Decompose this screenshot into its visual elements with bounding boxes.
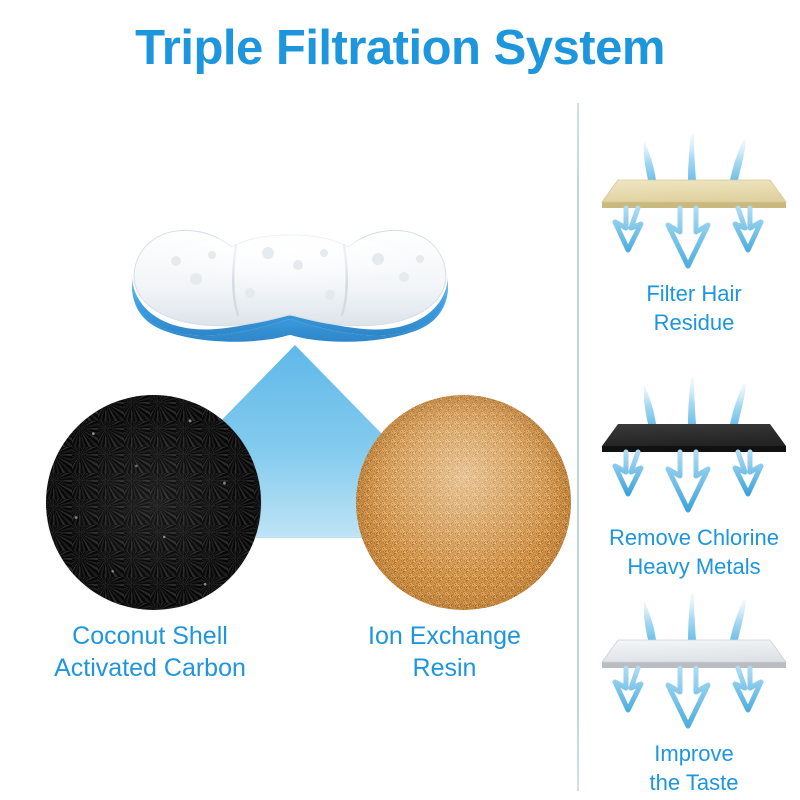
feature-remove-chlorine-heavy-metals: Remove Chlorine Heavy Metals (588, 372, 800, 581)
activated-carbon-label: Coconut Shell Activated Carbon (0, 620, 300, 684)
carbon-label-line1: Coconut Shell (72, 622, 228, 650)
feature3-line1: Improve (654, 741, 733, 766)
benefits-section: Filter Hair Residue (588, 110, 800, 800)
feature-caption-improve-the-taste: Improve the Taste (588, 740, 800, 797)
feature2-line2: Heavy Metals (588, 553, 800, 582)
filter-layer-diagram-light (588, 588, 800, 738)
inlet-streams (644, 378, 746, 424)
filter-layer-diagram-tan (588, 128, 800, 278)
outlet-arrows (615, 452, 761, 510)
section-divider (577, 103, 579, 791)
carbon-label-line2: Activated Carbon (0, 652, 300, 684)
feature2-line1: Remove Chlorine (609, 525, 779, 550)
filter-slab (602, 640, 786, 668)
filter-layer-diagram-dark (588, 372, 800, 522)
feature1-line1: Filter Hair (646, 281, 741, 306)
inlet-streams (644, 594, 746, 640)
materials-section: Coconut Shell Activated Carbon Ion Excha… (0, 95, 577, 800)
infographic-canvas: Triple Filtration System (0, 0, 800, 800)
feature-caption-remove-chlorine-heavy-metals: Remove Chlorine Heavy Metals (588, 524, 800, 581)
feature-caption-filter-hair-residue: Filter Hair Residue (588, 280, 800, 337)
page-title: Triple Filtration System (0, 22, 800, 76)
filter-slab (602, 424, 786, 452)
outlet-arrows (615, 208, 761, 266)
resin-label-line1: Ion Exchange (368, 622, 521, 650)
ion-exchange-resin-label: Ion Exchange Resin (312, 620, 577, 684)
resin-label-line2: Resin (312, 652, 577, 684)
feature1-line2: Residue (588, 309, 800, 338)
outlet-arrows (615, 668, 761, 726)
inlet-streams (644, 134, 746, 180)
activated-carbon-swatch (46, 395, 261, 610)
filter-cartridge-image (120, 215, 460, 345)
feature-filter-hair-residue: Filter Hair Residue (588, 128, 800, 337)
filter-slab (602, 180, 786, 208)
feature3-line2: the Taste (588, 769, 800, 798)
feature-improve-the-taste: Improve the Taste (588, 588, 800, 797)
ion-exchange-resin-swatch (356, 395, 571, 610)
